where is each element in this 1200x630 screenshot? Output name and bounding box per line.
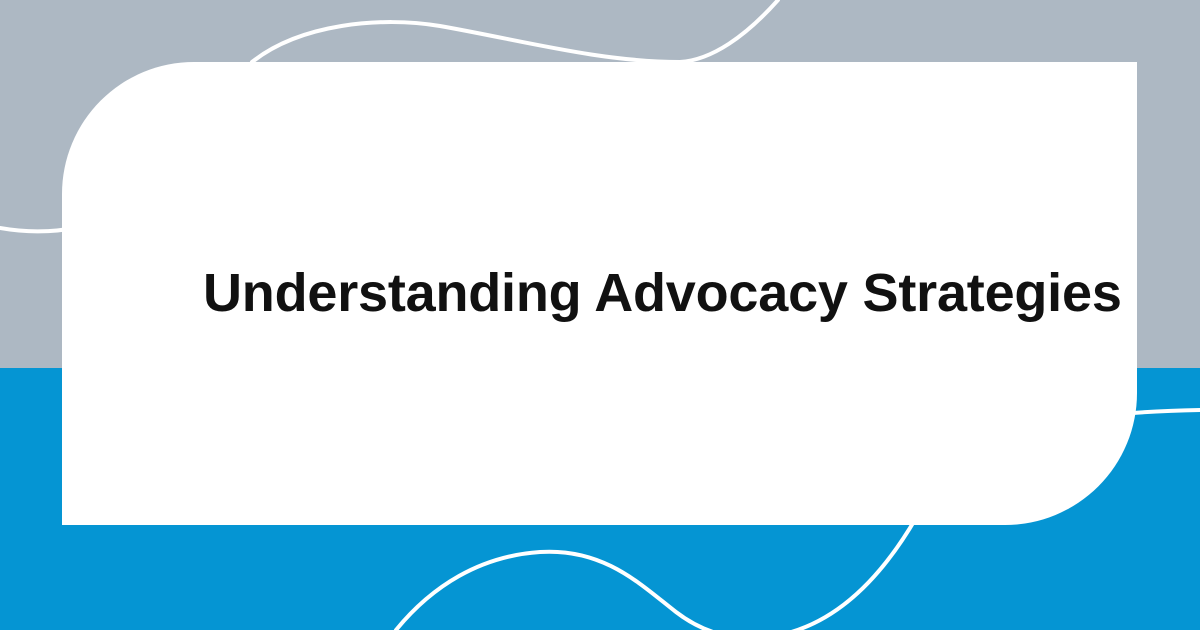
page-title: Understanding Advocacy Strategies [203,262,1122,325]
blue-band-right-rise [1137,368,1200,630]
title-container: Understanding Advocacy Strategies [62,62,1137,525]
banner-graphic: Understanding Advocacy Strategies [0,0,1200,630]
